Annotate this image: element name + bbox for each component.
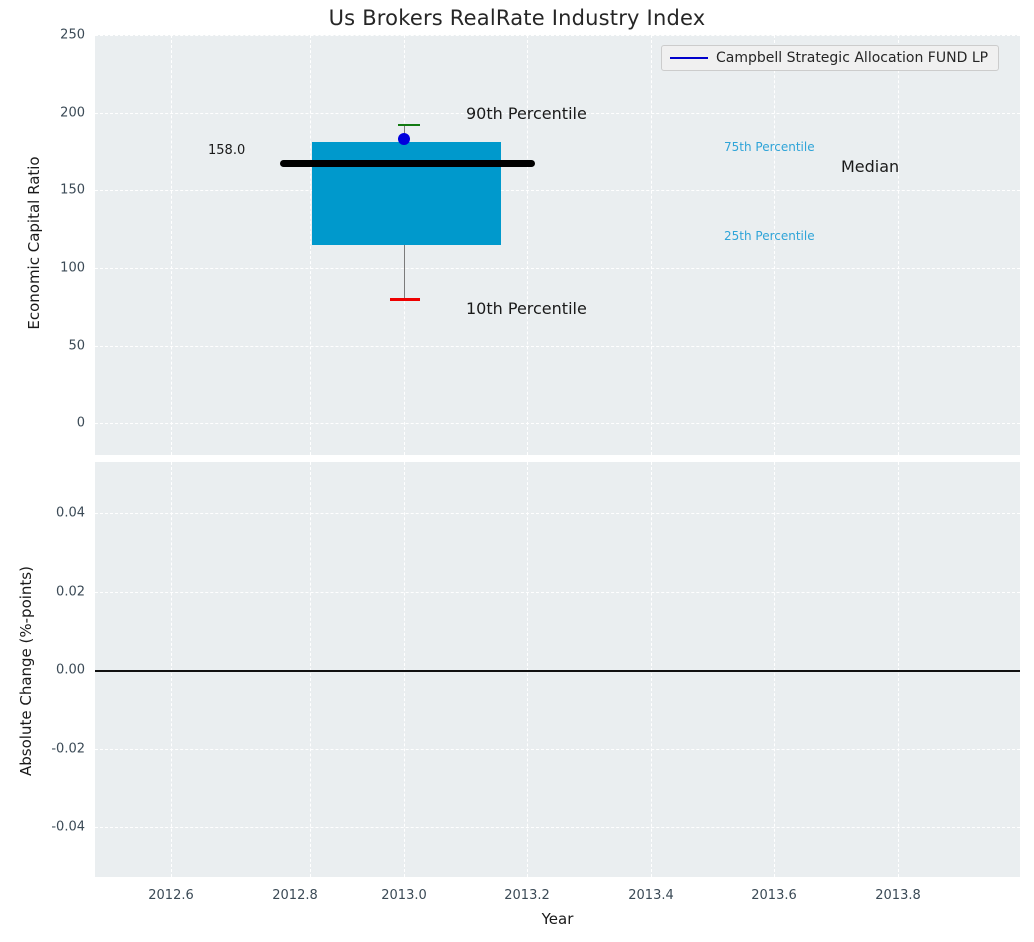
x-axis-label: Year — [95, 910, 1020, 928]
ytick-200: 200 — [60, 106, 85, 121]
xtick-2012.6: 2012.6 — [148, 888, 194, 903]
y-axis-label-top: Economic Capital Ratio — [25, 143, 43, 343]
legend-item-label: Campbell Strategic Allocation FUND LP — [716, 50, 988, 66]
ytick-0.04: 0.04 — [56, 506, 85, 521]
median-annotation: Median — [841, 157, 899, 176]
gridline-x-2013.2 — [527, 35, 528, 455]
xtick-2013.0: 2013.0 — [381, 888, 427, 903]
gridline-x-2013.8 — [898, 35, 899, 455]
ytick-100: 100 — [60, 261, 85, 276]
gridline-y--0.04 — [95, 827, 1020, 828]
gridline-x-2013.4 — [651, 35, 652, 455]
gridline-y-150 — [95, 190, 1020, 191]
xtick-2013.8: 2013.8 — [875, 888, 921, 903]
xtick-2013.6: 2013.6 — [751, 888, 797, 903]
gridline-y-100 — [95, 268, 1020, 269]
page-title: Us Brokers RealRate Industry Index — [0, 6, 1034, 30]
ytick--0.02: -0.02 — [51, 742, 85, 757]
panel-absolute-change — [95, 462, 1020, 877]
p25-percentile-annotation: 25th Percentile — [724, 229, 815, 243]
iqr-box[interactable] — [312, 142, 501, 245]
y-axis-label-bottom: Absolute Change (%-points) — [17, 551, 35, 791]
gridline-x-2012.8 — [310, 35, 311, 455]
gridline-y-0 — [95, 423, 1020, 424]
ytick-0.02: 0.02 — [56, 585, 85, 600]
p90-percentile-annotation: 90th Percentile — [466, 104, 587, 123]
gridline-y-0.02 — [95, 592, 1020, 593]
chart-legend[interactable]: Campbell Strategic Allocation FUND LP — [661, 45, 999, 71]
p10-percentile-annotation: 10th Percentile — [466, 299, 587, 318]
legend-line-swatch — [670, 57, 708, 59]
y-axis-ticks-bottom: 0.04 0.02 0.00 -0.02 -0.04 — [0, 462, 85, 877]
p10-cap-marker — [390, 298, 420, 301]
gridline-x-2012.6 — [171, 35, 172, 455]
fund-value-marker[interactable] — [398, 133, 410, 145]
ytick-250: 250 — [60, 28, 85, 43]
gridline-y-50 — [95, 346, 1020, 347]
ytick-0.00: 0.00 — [56, 663, 85, 678]
ytick-50: 50 — [68, 339, 85, 354]
xtick-2012.8: 2012.8 — [272, 888, 318, 903]
ytick-150: 150 — [60, 183, 85, 198]
median-line — [280, 160, 535, 167]
gridline-x-2013.6 — [774, 35, 775, 455]
panel-economic-capital-ratio — [95, 35, 1020, 455]
gridline-y--0.02 — [95, 749, 1020, 750]
gridline-y-0.04 — [95, 513, 1020, 514]
gridline-y-250 — [95, 35, 1020, 36]
zero-reference-line — [95, 670, 1020, 672]
p75-percentile-annotation: 75th Percentile — [724, 140, 815, 154]
ytick--0.04: -0.04 — [51, 820, 85, 835]
p90-cap-marker — [398, 124, 420, 126]
ytick-0: 0 — [77, 416, 85, 431]
xtick-2013.2: 2013.2 — [504, 888, 550, 903]
xtick-2013.4: 2013.4 — [628, 888, 674, 903]
chart-figure: Us Brokers RealRate Industry Index — [0, 0, 1034, 942]
median-value-annotation: 158.0 — [208, 143, 245, 158]
